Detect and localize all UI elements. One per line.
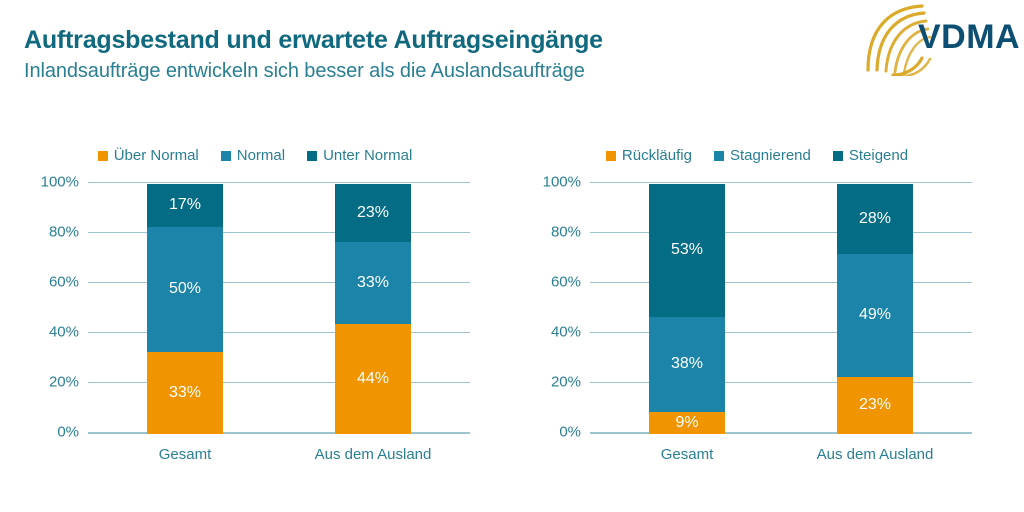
bar-segment-unter-normal[interactable]: 17%: [147, 184, 223, 227]
bar-segment-label: 33%: [169, 385, 201, 401]
legend-swatch-steigend: [833, 151, 843, 161]
legend-swatch-ueber-normal: [98, 151, 108, 161]
gridline-100: 100%: [590, 182, 972, 183]
legend-item-steigend[interactable]: Steigend: [833, 148, 908, 163]
bar-segment-normal[interactable]: 50%: [147, 227, 223, 352]
legend-label-stagnierend: Stagnierend: [730, 148, 811, 163]
ytick-100: 100%: [41, 174, 79, 191]
ytick-20: 20%: [551, 374, 581, 391]
plot-area: 100% 80% 60% 40% 20% 0% 17% 50% 33%: [88, 182, 470, 434]
bar-segment-ruecklaeufig[interactable]: 23%: [837, 377, 913, 435]
x-axis-line: 0%: [590, 432, 972, 434]
page-subtitle: Inlandsaufträge entwickeln sich besser a…: [24, 60, 585, 83]
legend-swatch-normal: [221, 151, 231, 161]
ytick-20: 20%: [49, 374, 79, 391]
ytick-80: 80%: [49, 224, 79, 241]
legend-swatch-ruecklaeufig: [606, 151, 616, 161]
legend-label-ueber-normal: Über Normal: [114, 148, 199, 163]
gridline-80: 80%: [88, 232, 470, 233]
ytick-60: 60%: [551, 274, 581, 291]
bar-segment-ueber-normal[interactable]: 33%: [147, 352, 223, 435]
bar-segment-label: 9%: [675, 415, 698, 431]
legend-item-unter-normal[interactable]: Unter Normal: [307, 148, 412, 163]
ytick-40: 40%: [551, 324, 581, 341]
legend-item-stagnierend[interactable]: Stagnierend: [714, 148, 811, 163]
bar-aus-dem-ausland[interactable]: 28% 49% 23% Aus dem Ausland: [837, 184, 913, 434]
bar-segment-label: 49%: [859, 307, 891, 323]
legend-label-steigend: Steigend: [849, 148, 908, 163]
bar-segment-label: 28%: [859, 211, 891, 227]
bar-segment-label: 50%: [169, 281, 201, 297]
bar-segment-stagnierend[interactable]: 49%: [837, 254, 913, 377]
bar-aus-dem-ausland[interactable]: 23% 33% 44% Aus dem Ausland: [335, 184, 411, 434]
xtick-gesamt: Gesamt: [587, 446, 787, 463]
vdma-logo: VDMA: [860, 4, 1010, 76]
ytick-0: 0%: [57, 424, 79, 441]
bar-segment-steigend[interactable]: 53%: [649, 184, 725, 317]
ytick-100: 100%: [543, 174, 581, 191]
legend-label-normal: Normal: [237, 148, 285, 163]
legend-item-ruecklaeufig[interactable]: Rückläufig: [606, 148, 692, 163]
xtick-gesamt: Gesamt: [85, 446, 285, 463]
bar-segment-ueber-normal[interactable]: 44%: [335, 324, 411, 434]
ytick-80: 80%: [551, 224, 581, 241]
chart-auftragsbestand: Über Normal Normal Unter Normal 100% 80%…: [10, 140, 500, 480]
bar-segment-stagnierend[interactable]: 38%: [649, 317, 725, 412]
xtick-aus-dem-ausland: Aus dem Ausland: [273, 446, 473, 463]
xtick-aus-dem-ausland: Aus dem Ausland: [775, 446, 975, 463]
bar-gesamt[interactable]: 17% 50% 33% Gesamt: [147, 184, 223, 434]
legend-item-ueber-normal[interactable]: Über Normal: [98, 148, 199, 163]
x-axis-line: 0%: [88, 432, 470, 434]
gridline-100: 100%: [88, 182, 470, 183]
bar-gesamt[interactable]: 53% 38% 9% Gesamt: [649, 184, 725, 434]
bar-segment-label: 44%: [357, 371, 389, 387]
legend-label-ruecklaeufig: Rückläufig: [622, 148, 692, 163]
bar-segment-label: 53%: [671, 242, 703, 258]
plot-area: 100% 80% 60% 40% 20% 0% 53% 38% 9%: [590, 182, 972, 434]
gridline-60: 60%: [590, 282, 972, 283]
vdma-logo-text: VDMA: [918, 18, 1020, 57]
legend-swatch-unter-normal: [307, 151, 317, 161]
bar-segment-ruecklaeufig[interactable]: 9%: [649, 412, 725, 435]
header: Auftragsbestand und erwartete Auftragsei…: [0, 0, 1024, 120]
ytick-40: 40%: [49, 324, 79, 341]
ytick-60: 60%: [49, 274, 79, 291]
gridline-60: 60%: [88, 282, 470, 283]
bar-segment-label: 23%: [357, 205, 389, 221]
legend-swatch-stagnierend: [714, 151, 724, 161]
bar-segment-normal[interactable]: 33%: [335, 242, 411, 325]
gridline-20: 20%: [590, 382, 972, 383]
chart-auftragseingaenge: Rückläufig Stagnierend Steigend 100% 80%…: [512, 140, 1002, 480]
bar-segment-unter-normal[interactable]: 23%: [335, 184, 411, 242]
chart-legend: Über Normal Normal Unter Normal: [10, 148, 500, 163]
legend-label-unter-normal: Unter Normal: [323, 148, 412, 163]
gridline-20: 20%: [88, 382, 470, 383]
gridline-40: 40%: [88, 332, 470, 333]
bar-segment-label: 23%: [859, 397, 891, 413]
legend-item-normal[interactable]: Normal: [221, 148, 285, 163]
bar-segment-steigend[interactable]: 28%: [837, 184, 913, 254]
ytick-0: 0%: [559, 424, 581, 441]
bar-segment-label: 33%: [357, 275, 389, 291]
chart-legend: Rückläufig Stagnierend Steigend: [512, 148, 1002, 163]
bar-segment-label: 17%: [169, 197, 201, 213]
page-title: Auftragsbestand und erwartete Auftragsei…: [24, 26, 603, 55]
gridline-80: 80%: [590, 232, 972, 233]
gridline-40: 40%: [590, 332, 972, 333]
bar-segment-label: 38%: [671, 356, 703, 372]
